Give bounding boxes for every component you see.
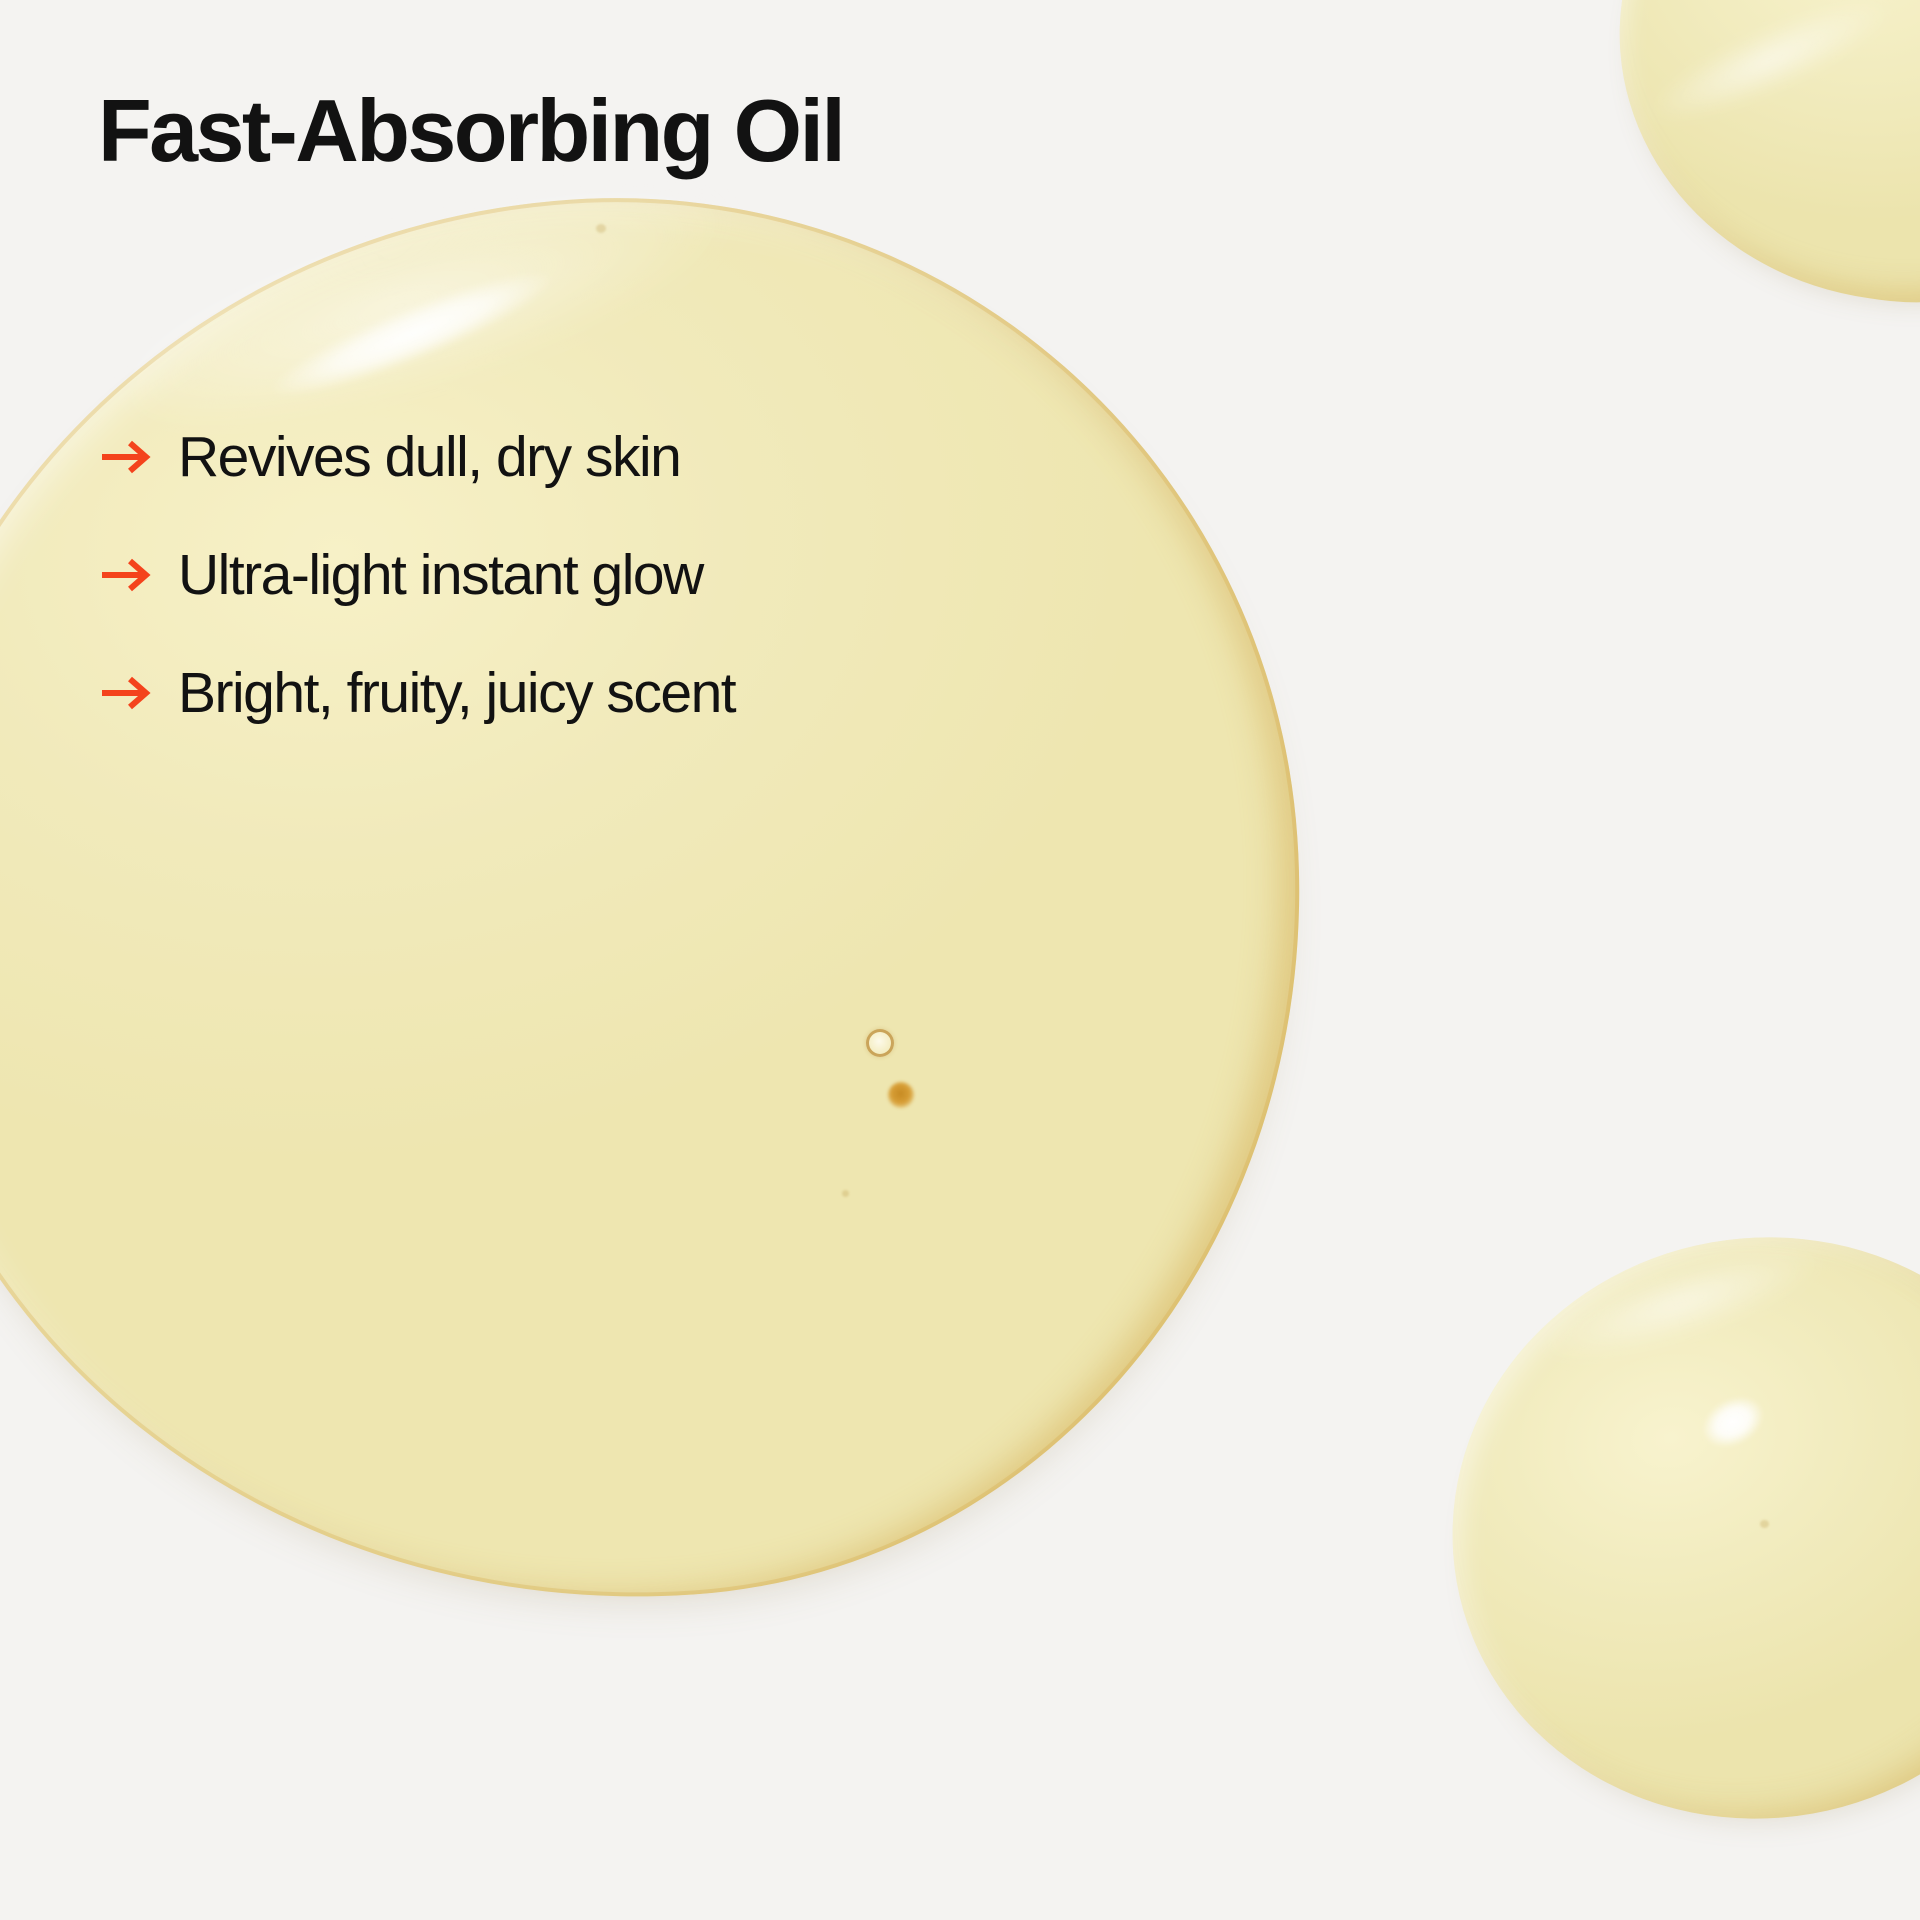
benefit-label: Ultra-light instant glow (178, 542, 703, 608)
benefit-item-1: Revives dull, dry skin (100, 398, 735, 516)
benefit-item-2: Ultra-light instant glow (100, 516, 735, 634)
benefit-label: Revives dull, dry skin (178, 424, 680, 490)
product-benefits-image: Fast-Absorbing Oil Revives dull, dry ski… (0, 0, 1920, 1920)
benefits-list: Revives dull, dry skin Ultra-light insta… (100, 398, 735, 752)
benefit-label: Bright, fruity, juicy scent (178, 660, 735, 726)
text-overlay: Fast-Absorbing Oil Revives dull, dry ski… (0, 0, 1920, 1920)
page-title: Fast-Absorbing Oil (98, 86, 843, 176)
arrow-right-icon (100, 673, 152, 713)
arrow-right-icon (100, 555, 152, 595)
arrow-right-icon (100, 437, 152, 477)
benefit-item-3: Bright, fruity, juicy scent (100, 634, 735, 752)
